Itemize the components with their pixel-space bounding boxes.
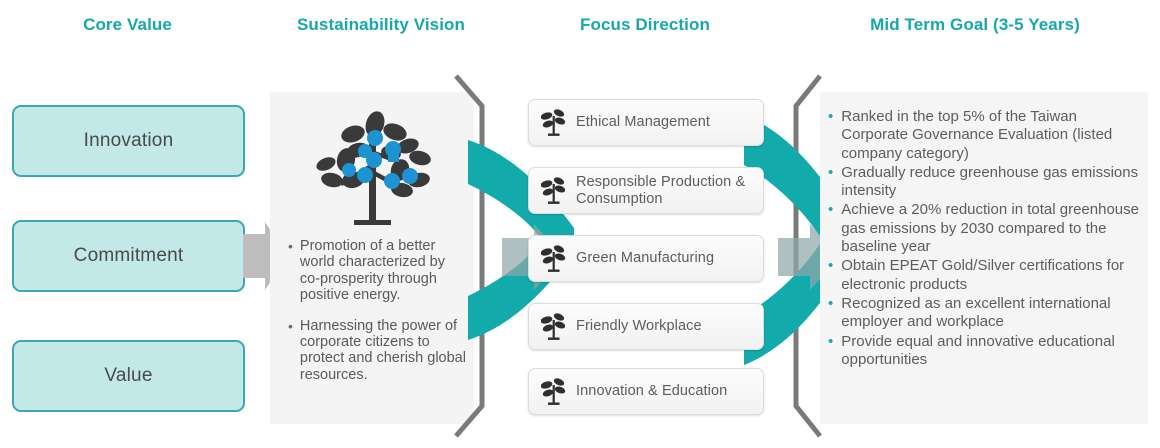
column-header-mid-term-goal: Mid Term Goal (3-5 Years)	[790, 15, 1160, 35]
bullet-glyph: •	[828, 295, 833, 332]
list-item-text: Gradually reduce greenhouse gas emission…	[841, 164, 1140, 201]
sprout-icon	[541, 244, 567, 274]
tree-icon	[296, 108, 451, 233]
list-item-text: Obtain EPEAT Gold/Silver certifications …	[841, 257, 1140, 294]
list-item: • Achieve a 20% reduction in total green…	[828, 201, 1140, 256]
focus-direction-box-innovation-education[interactable]: Innovation & Education	[528, 368, 764, 415]
bullet-glyph: •	[288, 318, 293, 384]
core-value-box-commitment[interactable]: Commitment	[12, 220, 245, 292]
mid-term-goal-bullet-list: • Ranked in the top 5% of the Taiwan Cor…	[828, 108, 1140, 370]
sustainability-vision-bullet-list: • Promotion of a better world characteri…	[288, 238, 468, 397]
list-item-text: Provide equal and innovative educational…	[841, 333, 1140, 370]
focus-direction-label: Innovation & Education	[576, 383, 727, 399]
list-item: • Ranked in the top 5% of the Taiwan Cor…	[828, 108, 1140, 163]
focus-direction-label: Responsible Production & Consumption	[576, 174, 763, 206]
focus-direction-label: Ethical Management	[576, 114, 710, 130]
bullet-glyph: •	[828, 201, 833, 256]
core-value-box-value[interactable]: Value	[12, 340, 245, 412]
core-value-label: Commitment	[74, 245, 184, 267]
core-value-label: Value	[104, 365, 152, 387]
focus-direction-box-friendly-workplace[interactable]: Friendly Workplace	[528, 303, 764, 350]
list-item: • Gradually reduce greenhouse gas emissi…	[828, 164, 1140, 201]
column-header-sustainability-vision: Sustainability Vision	[262, 15, 500, 35]
list-item-text: Promotion of a better world characterize…	[300, 238, 468, 304]
bullet-glyph: •	[828, 257, 833, 294]
bullet-glyph: •	[828, 333, 833, 370]
list-item-text: Recognized as an excellent international…	[841, 295, 1140, 332]
focus-direction-box-ethical-management[interactable]: Ethical Management	[528, 99, 764, 146]
list-item-text: Harnessing the power of corporate citize…	[300, 318, 468, 384]
bullet-glyph: •	[828, 164, 833, 201]
focus-direction-label: Friendly Workplace	[576, 318, 702, 334]
focus-direction-box-green-manufacturing[interactable]: Green Manufacturing	[528, 235, 764, 282]
sprout-icon	[541, 108, 567, 138]
list-item-text: Achieve a 20% reduction in total greenho…	[841, 201, 1140, 256]
sprout-icon	[541, 312, 567, 342]
list-item: • Promotion of a better world characteri…	[288, 238, 468, 304]
list-item: • Obtain EPEAT Gold/Silver certification…	[828, 257, 1140, 294]
list-item: • Provide equal and innovative education…	[828, 333, 1140, 370]
sprout-icon	[541, 377, 567, 407]
sprout-icon	[541, 176, 567, 206]
strategy-diagram: Core Value Sustainability Vision Focus D…	[0, 0, 1160, 448]
bullet-glyph: •	[828, 108, 833, 163]
core-value-label: Innovation	[84, 130, 174, 152]
column-header-core-value: Core Value	[0, 15, 255, 35]
list-item: • Harnessing the power of corporate citi…	[288, 318, 468, 384]
focus-direction-box-responsible-production[interactable]: Responsible Production & Consumption	[528, 167, 764, 214]
bullet-glyph: •	[288, 238, 293, 304]
list-item-text: Ranked in the top 5% of the Taiwan Corpo…	[841, 108, 1140, 163]
focus-direction-label: Green Manufacturing	[576, 250, 714, 266]
list-item: • Recognized as an excellent internation…	[828, 295, 1140, 332]
core-value-box-innovation[interactable]: Innovation	[12, 105, 245, 177]
column-header-focus-direction: Focus Direction	[500, 15, 790, 35]
